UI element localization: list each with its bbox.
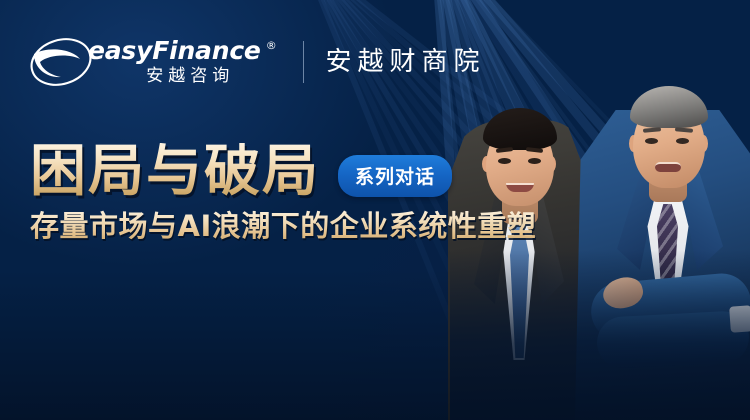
page-subtitle: 存量市场与AI浪潮下的企业系统性重塑 <box>30 207 536 245</box>
speaker-right-portrait <box>575 0 750 420</box>
speaker-right-eye-left <box>645 138 658 144</box>
registered-trademark-icon: ® <box>266 40 277 51</box>
main-title-row: 困局与破局 系列对话 <box>30 143 452 201</box>
speaker-right-mouth <box>655 162 681 172</box>
speaker-right-shirt-cuff <box>729 305 750 332</box>
logo-wordmark: easyFinance ® 安越咨询 <box>88 38 277 86</box>
page-title: 困局与破局 <box>30 143 320 201</box>
logo-english-text: easyFinance <box>88 38 261 64</box>
speaker-left-hair <box>483 108 557 150</box>
header-divider <box>303 41 304 83</box>
logo-english-name: easyFinance ® <box>88 38 277 64</box>
series-badge: 系列对话 <box>338 155 452 197</box>
speaker-right-eye-right <box>676 138 689 144</box>
promo-poster: easyFinance ® 安越咨询 安越财商院 困局与破局 系列对话 存量市场… <box>0 0 750 420</box>
speaker-left-eye-left <box>498 158 511 164</box>
logo-chinese-name: 安越咨询 <box>88 66 277 86</box>
speaker-right-hair <box>630 86 708 128</box>
brand-title: 安越财商院 <box>326 47 486 77</box>
easyfinance-logo-icon <box>28 32 94 92</box>
speaker-left-eye-right <box>528 158 541 164</box>
speaker-right-arm-lower <box>596 310 750 370</box>
brand-header: easyFinance ® 安越咨询 安越财商院 <box>28 30 486 94</box>
